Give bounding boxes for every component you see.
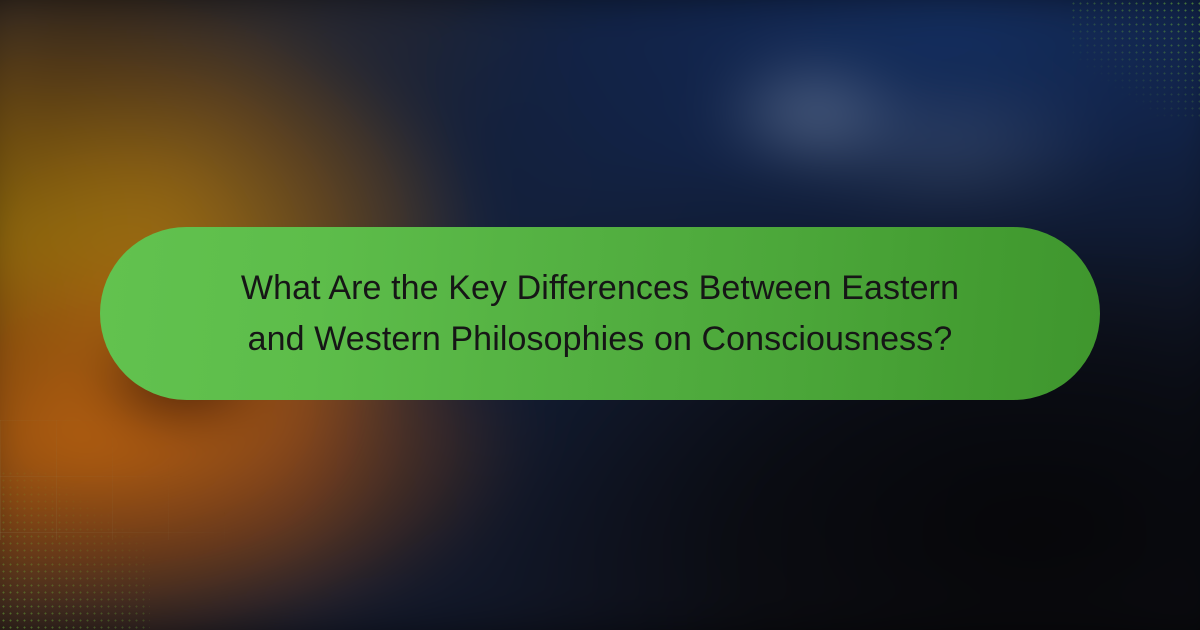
title-banner: What Are the Key Differences Between Eas… — [100, 227, 1100, 400]
share-card: What Are the Key Differences Between Eas… — [0, 0, 1200, 630]
page-title: What Are the Key Differences Between Eas… — [220, 263, 980, 365]
